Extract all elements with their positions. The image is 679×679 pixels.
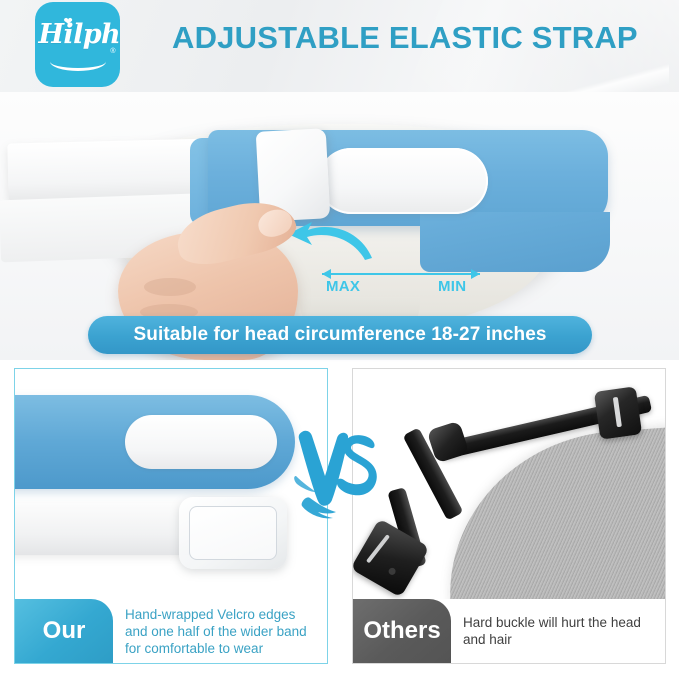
others-description: Hard buckle will hurt the head and hair bbox=[451, 599, 665, 663]
head-circumference-banner: Suitable for head circumference 18-27 in… bbox=[88, 316, 592, 354]
white-velcro-rectangle-patch bbox=[179, 497, 287, 569]
brand-logo: ❤ Hilph ® bbox=[35, 2, 120, 87]
registered-trademark-icon: ® bbox=[110, 48, 115, 55]
page-title: ADJUSTABLE ELASTIC STRAP bbox=[172, 20, 638, 56]
others-label: Others bbox=[353, 599, 451, 663]
buckle-slot-top bbox=[613, 397, 622, 427]
logo-swoosh-decoration bbox=[50, 52, 106, 71]
hard-buckle-bottom bbox=[353, 518, 430, 597]
our-product-photo bbox=[15, 369, 327, 599]
buckle-rivet bbox=[387, 567, 397, 577]
buckle-slot-bottom bbox=[366, 534, 390, 563]
min-label: MIN bbox=[438, 278, 466, 295]
max-label: MAX bbox=[326, 278, 360, 295]
measurement-line bbox=[322, 273, 480, 275]
logo-wordmark: Hilph bbox=[39, 19, 117, 51]
our-caption-row: Our Hand-wrapped Velcro edges and one ha… bbox=[15, 599, 327, 663]
comparison-section: Our Hand-wrapped Velcro edges and one ha… bbox=[0, 362, 679, 679]
our-panel: Our Hand-wrapped Velcro edges and one ha… bbox=[14, 368, 328, 664]
hand-knuckle-1 bbox=[144, 278, 196, 296]
header-bar: ❤ Hilph ® ADJUSTABLE ELASTIC STRAP bbox=[0, 0, 679, 92]
others-caption-row: Others Hard buckle will hurt the head an… bbox=[353, 599, 665, 663]
banner-label: Suitable for head circumference 18-27 in… bbox=[133, 324, 546, 346]
our-description: Hand-wrapped Velcro edges and one half o… bbox=[113, 599, 327, 663]
vs-brush-icon bbox=[292, 424, 378, 520]
our-label: Our bbox=[15, 599, 113, 663]
others-product-photo bbox=[353, 369, 665, 599]
others-panel: Others Hard buckle will hurt the head an… bbox=[352, 368, 666, 664]
measurement-arrow-right-head bbox=[471, 269, 480, 279]
blue-strap-wrap-under bbox=[420, 212, 610, 272]
velcro-patch bbox=[318, 148, 488, 214]
logo-mark: ❤ Hilph ® bbox=[39, 17, 117, 73]
hand-wrapped-velcro-patch bbox=[125, 415, 277, 469]
hard-buckle-top bbox=[594, 386, 642, 439]
velcro-patch-inner-edge bbox=[189, 506, 277, 560]
